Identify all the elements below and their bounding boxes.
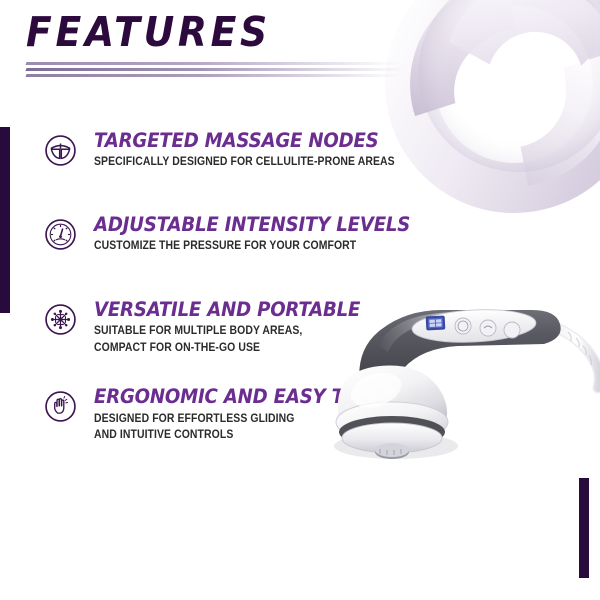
feature-heading: ADJUSTABLE INTENSITY LEVELS — [94, 215, 420, 235]
feature-heading: ERGONOMIC AND EASY TO USE — [94, 387, 420, 407]
feature-subtitle-line: CUSTOMIZE THE PRESSURE FOR YOUR COMFORT — [94, 238, 409, 254]
title-rule-1 — [25, 62, 416, 65]
right-accent-bar — [579, 478, 589, 578]
page-title-block: FEATURES — [26, 12, 446, 80]
hand-gesture-icon — [44, 390, 77, 423]
feature-item-versatile-and-portable: VERSATILE AND PORTABLE SUITABLE FOR MULT… — [44, 300, 444, 356]
title-rule-2 — [25, 68, 416, 71]
title-rule-3 — [25, 74, 416, 77]
feature-subtitle-line: AND INTUITIVE CONTROLS — [94, 427, 409, 443]
feature-heading: TARGETED MASSAGE NODES — [94, 131, 420, 151]
feature-item-adjustable-intensity-levels: ADJUSTABLE INTENSITY LEVELS CUSTOMIZE TH… — [44, 215, 444, 255]
feature-subtitle-line: COMPACT FOR ON-THE-GO USE — [94, 340, 409, 356]
feature-item-ergonomic-and-easy-to-use: ERGONOMIC AND EASY TO USE DESIGNED FOR E… — [44, 387, 444, 443]
feature-item-targeted-massage-nodes: TARGETED MASSAGE NODES SPECIFICALLY DESI… — [44, 131, 444, 171]
page-title: FEATURES — [26, 12, 412, 53]
gauge-icon — [44, 218, 77, 251]
feature-list: TARGETED MASSAGE NODES SPECIFICALLY DESI… — [44, 131, 444, 444]
feature-subtitle-line: SPECIFICALLY DESIGNED FOR CELLULITE-PRON… — [94, 154, 409, 170]
left-accent-bar — [0, 127, 10, 313]
feature-subtitle-line: DESIGNED FOR EFFORTLESS GLIDING — [94, 411, 409, 427]
network-nodes-icon — [44, 303, 77, 336]
massage-nodes-icon — [44, 134, 77, 167]
feature-subtitle-line: SUITABLE FOR MULTIPLE BODY AREAS, — [94, 323, 409, 339]
feature-heading: VERSATILE AND PORTABLE — [94, 300, 420, 320]
title-underline-rules — [26, 62, 416, 80]
feature-infographic: FEATURES TARGETED MASSAGE NODES SPECIFIC… — [0, 0, 600, 600]
